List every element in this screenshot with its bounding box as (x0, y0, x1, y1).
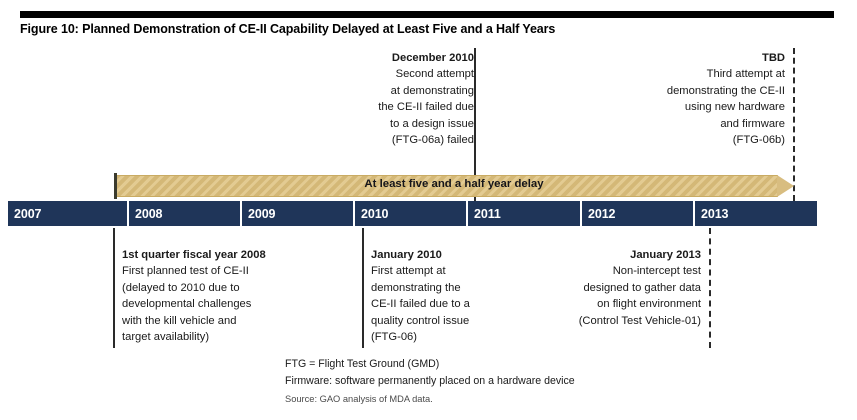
callout-line: Third attempt at (645, 66, 785, 82)
callout-january-2013: January 2013 Non-intercept test designed… (529, 247, 709, 329)
callout-line: with the kill vehicle and (122, 313, 322, 329)
callout-line: and firmware (645, 116, 785, 132)
title-rule (20, 11, 834, 18)
footnote-source: Source: GAO analysis of MDA data. (285, 394, 433, 404)
callout-fy2008-q1: 1st quarter fiscal year 2008 First plann… (122, 247, 322, 345)
connector-line-fy2008-q1 (113, 228, 115, 348)
callout-december-2010: December 2010 Second attempt at demonstr… (340, 50, 482, 148)
callout-line: developmental challenges (122, 296, 322, 312)
callout-line: CE-II failed due to a (371, 296, 551, 312)
year-label: 2010 (355, 207, 388, 221)
year-cell-2011: 2011 (466, 201, 580, 226)
callout-title: January 2013 (529, 247, 701, 263)
callout-line: Second attempt (340, 66, 474, 82)
callout-line: (Control Test Vehicle-01) (529, 313, 701, 329)
callout-title: TBD (645, 50, 785, 66)
callout-title: 1st quarter fiscal year 2008 (122, 247, 322, 263)
callout-line: demonstrating the (371, 280, 551, 296)
callout-line: to a design issue (340, 116, 474, 132)
callout-line: (FTG-06a) failed (340, 132, 474, 148)
delay-bar: At least five and a half year delay (114, 175, 794, 197)
year-label: 2007 (8, 207, 41, 221)
year-cell-2009: 2009 (240, 201, 353, 226)
callout-line: on flight environment (529, 296, 701, 312)
year-cell-2013: 2013 (693, 201, 817, 226)
connector-line-january-2013 (709, 228, 711, 348)
callout-line: target availability) (122, 329, 322, 345)
callout-line: First planned test of CE-II (122, 263, 322, 279)
callout-line: demonstrating the CE-II (645, 83, 785, 99)
callout-line: at demonstrating (340, 83, 474, 99)
callout-line: (FTG-06) (371, 329, 551, 345)
footnote-ftg: FTG = Flight Test Ground (GMD) (285, 358, 439, 370)
year-cell-2008: 2008 (127, 201, 240, 226)
year-label: 2012 (582, 207, 615, 221)
callout-line: Non-intercept test (529, 263, 701, 279)
footnote-firmware: Firmware: software permanently placed on… (285, 375, 575, 387)
callout-title: December 2010 (340, 50, 474, 66)
callout-line: quality control issue (371, 313, 551, 329)
year-label: 2008 (129, 207, 162, 221)
delay-bar-arrowhead-icon (777, 175, 794, 197)
callout-line: First attempt at (371, 263, 551, 279)
connector-line-january-2010 (362, 228, 364, 348)
year-cell-2010: 2010 (353, 201, 466, 226)
year-label: 2013 (695, 207, 728, 221)
page-title: Figure 10: Planned Demonstration of CE-I… (20, 22, 840, 36)
year-label: 2009 (242, 207, 275, 221)
callout-line: the CE-II failed due (340, 99, 474, 115)
year-label: 2011 (468, 207, 501, 221)
year-cell-2012: 2012 (580, 201, 693, 226)
callout-line: using new hardware (645, 99, 785, 115)
year-cell-2007: 2007 (8, 201, 127, 226)
timeline-year-axis: 2007 2008 2009 2010 2011 2012 2013 (8, 201, 817, 226)
delay-bar-body (117, 175, 778, 197)
callout-title: January 2010 (371, 247, 551, 263)
callout-line: designed to gather data (529, 280, 701, 296)
callout-line: (delayed to 2010 due to (122, 280, 322, 296)
callout-january-2010: January 2010 First attempt at demonstrat… (371, 247, 551, 345)
callout-tbd: TBD Third attempt at demonstrating the C… (645, 50, 794, 148)
callout-line: (FTG-06b) (645, 132, 785, 148)
